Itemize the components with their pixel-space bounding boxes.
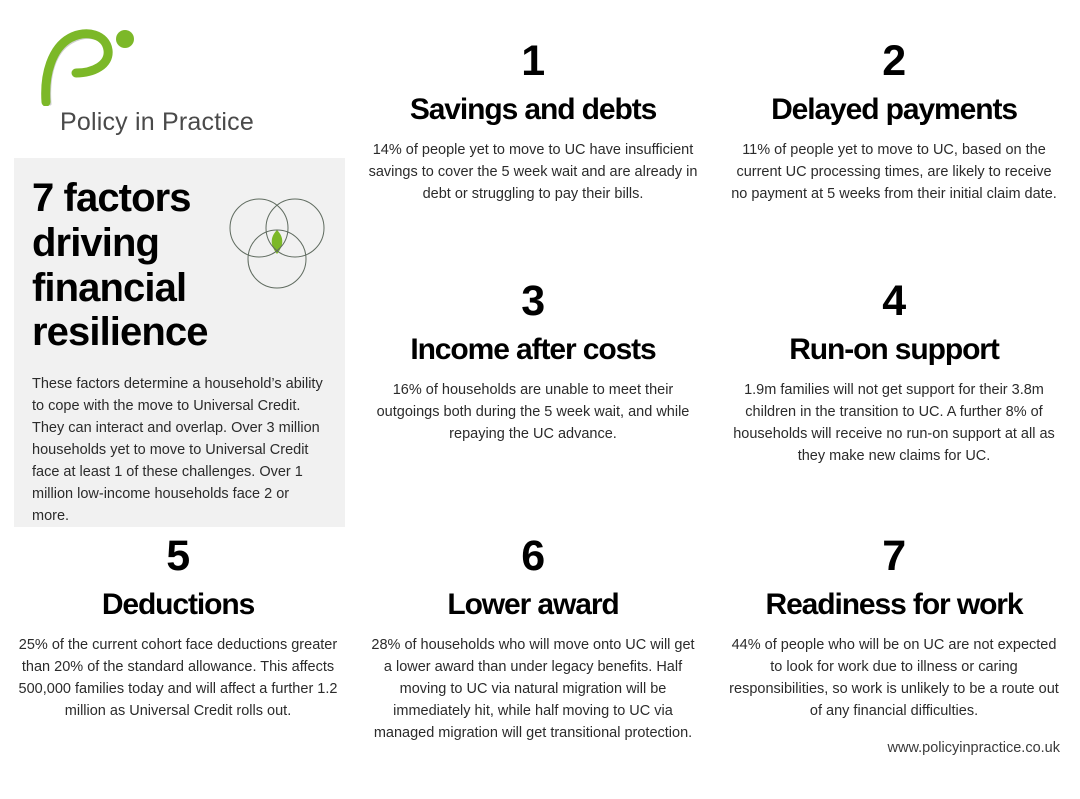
page-title: 7 factors driving financial resilience <box>32 176 247 355</box>
factor-card-2: 2 Delayed payments 11% of people yet to … <box>728 40 1060 205</box>
intro-panel: 7 factors driving financial resilience T… <box>14 158 345 527</box>
factor-title: Deductions <box>12 589 344 621</box>
factor-number: 4 <box>728 280 1060 323</box>
factor-body-text: 44% of people who will be on UC are not … <box>724 634 1064 723</box>
factor-body-text: 16% of households are unable to meet the… <box>368 379 698 446</box>
factor-card-3: 3 Income after costs 16% of households a… <box>368 280 698 445</box>
factor-body-text: 11% of people yet to move to UC, based o… <box>728 139 1060 206</box>
factor-body-text: 28% of households who will move onto UC … <box>368 634 698 745</box>
factor-card-6: 6 Lower award 28% of households who will… <box>368 535 698 744</box>
factor-body-text: 14% of people yet to move to UC have ins… <box>368 139 698 206</box>
factor-title: Run-on support <box>728 334 1060 366</box>
factor-title: Delayed payments <box>728 94 1060 126</box>
factor-title: Readiness for work <box>724 589 1064 621</box>
factor-number: 5 <box>12 535 344 578</box>
factor-body-text: 25% of the current cohort face deduction… <box>12 634 344 723</box>
factor-card-4: 4 Run-on support 1.9m families will not … <box>728 280 1060 467</box>
brand-wordmark: Policy in Practice <box>60 108 254 137</box>
factor-card-1: 1 Savings and debts 14% of people yet to… <box>368 40 698 205</box>
factor-number: 7 <box>724 535 1064 578</box>
policy-in-practice-swoosh-logo <box>32 24 142 106</box>
factor-body-text: 1.9m families will not get support for t… <box>728 379 1060 468</box>
three-circle-venn-diagram <box>225 196 329 292</box>
factor-number: 1 <box>368 40 698 83</box>
factor-title: Savings and debts <box>368 94 698 126</box>
brand-logo: Policy in Practice <box>28 24 328 134</box>
factor-number: 6 <box>368 535 698 578</box>
factor-number: 2 <box>728 40 1060 83</box>
factor-title: Income after costs <box>368 334 698 366</box>
factor-card-5: 5 Deductions 25% of the current cohort f… <box>12 535 344 722</box>
infographic-page: Policy in Practice 7 factors driving fin… <box>0 0 1080 799</box>
intro-body-text: These factors determine a household’s ab… <box>32 373 325 527</box>
website-url[interactable]: www.policyinpractice.co.uk <box>888 740 1060 756</box>
factor-title: Lower award <box>368 589 698 621</box>
factor-card-7: 7 Readiness for work 44% of people who w… <box>724 535 1064 722</box>
factor-number: 3 <box>368 280 698 323</box>
